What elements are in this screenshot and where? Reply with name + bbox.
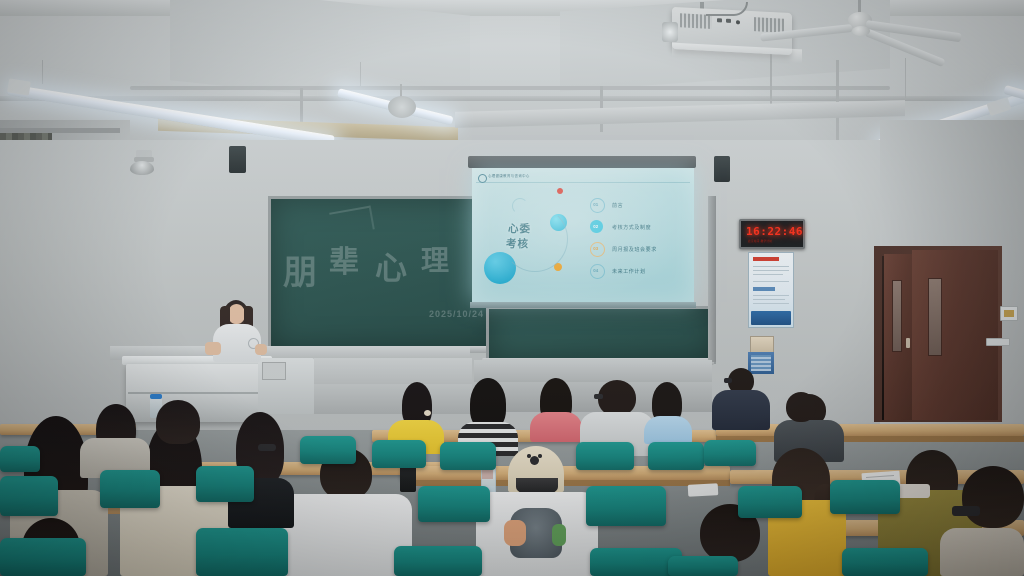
chalk-smudge: [329, 206, 375, 237]
light-wire-3: [905, 58, 906, 98]
poster-line-5: [753, 295, 789, 296]
chair-11[interactable]: [418, 486, 490, 522]
poster-line-2: [753, 270, 789, 271]
presenter-hand-right: [255, 344, 267, 355]
chair-12[interactable]: [586, 486, 666, 526]
chair-3[interactable]: [196, 466, 254, 502]
projector-port-1: [717, 18, 722, 22]
projector-lens: [662, 22, 678, 42]
conduit-pipe: [130, 86, 890, 90]
chalk-mark-3: 心: [375, 243, 407, 289]
chair-19[interactable]: [842, 548, 928, 576]
chair-8[interactable]: [440, 442, 496, 470]
screen-bloom: [472, 168, 694, 302]
chair-2[interactable]: [100, 470, 160, 508]
fan-hub-cap: [852, 26, 870, 36]
chalk-mark-4: 理: [421, 239, 449, 279]
student-navy-glasses: [724, 378, 732, 383]
chalk-date: 2025/10/24: [429, 309, 484, 319]
chalk-mark-1: 朋: [283, 245, 317, 294]
wall-poster: [748, 252, 794, 328]
shirt-graphic-hand: [504, 520, 526, 546]
chair-13[interactable]: [394, 546, 482, 576]
light-switch-plate: [1000, 306, 1018, 321]
chair-4[interactable]: [0, 538, 86, 576]
poster-line-3: [753, 274, 783, 275]
wall-chart-small: [748, 352, 774, 374]
chair-20[interactable]: [0, 446, 40, 472]
notebook-center: [688, 483, 719, 497]
screen-roller-case: [468, 156, 696, 168]
blackboard-left: 朋 辈 心 理 2025/10/24: [268, 196, 500, 352]
cap-logo-ear-right: [538, 454, 542, 458]
door-window-left: [892, 280, 902, 352]
door-handle: [906, 338, 910, 348]
student-gray-hair: [598, 380, 636, 416]
cap-logo-ear-left: [527, 454, 531, 458]
projector-led: [736, 20, 740, 24]
spacer-a: [470, 398, 476, 404]
door-window-right: [928, 278, 942, 356]
podium-seam: [128, 392, 264, 394]
cabinet-panel: [262, 362, 286, 380]
chair-17[interactable]: [830, 480, 900, 514]
student-far-right-glasses: [952, 506, 980, 516]
dome-camera: [130, 161, 154, 175]
wall-socket: [986, 338, 1010, 346]
wall-speaker-left: [229, 146, 246, 173]
student-far-right-top: [940, 528, 1024, 576]
poster-line-7: [753, 303, 789, 304]
chalk-mark-2: 辈: [329, 237, 359, 281]
podium-bottle-cap: [150, 394, 162, 399]
student-pink-top: [530, 412, 582, 442]
door-leaf-left: [884, 254, 912, 420]
presenter-hand-left: [205, 342, 221, 355]
chair-18[interactable]: [668, 556, 738, 576]
student-yellow-hairtie: [424, 410, 431, 416]
student-whitetee-shirt: [276, 494, 412, 576]
chair-7[interactable]: [372, 440, 426, 468]
projector-vent-right: [754, 17, 784, 33]
desk-row1-right-edge: [716, 436, 1024, 442]
front-counter: [314, 358, 472, 384]
projection-screen: 心理健康教育与咨询中心 心委 考核 01 前言 02 考核方式及制度: [472, 168, 694, 302]
student-backright-head: [786, 392, 816, 422]
poster-line-6: [753, 299, 785, 300]
poster-subhead: [753, 287, 775, 291]
chair-10[interactable]: [648, 442, 704, 470]
student-olive-collar: [896, 484, 930, 498]
front-counter-right: [474, 360, 712, 382]
clock-sublabel: 北京时间 教学计时: [748, 239, 772, 243]
shirt-graphic-leaf: [552, 524, 566, 546]
student-backleft-hair: [156, 400, 200, 444]
student-gray-glasses: [594, 394, 603, 399]
student-glasses-frames: [258, 444, 276, 451]
conduit-drop-1: [300, 88, 303, 124]
projector-port-2: [726, 19, 731, 23]
chair-5[interactable]: [196, 528, 288, 576]
poster-line-4: [753, 281, 789, 282]
curtain-rail: [0, 128, 120, 133]
front-counter-base: [314, 384, 472, 414]
chair-16[interactable]: [738, 486, 802, 518]
student-far-right-head: [962, 466, 1024, 528]
digital-clock: 16:22:46 北京时间 教学计时: [739, 219, 805, 249]
presenter-head: [228, 304, 245, 324]
poster-line-1: [753, 266, 789, 267]
light-wire-2: [360, 62, 361, 88]
wall-fan-head: [388, 96, 416, 118]
chair-9[interactable]: [576, 442, 634, 470]
light-wire-1: [42, 60, 43, 84]
blackboard-right: [486, 306, 716, 364]
poster-footer-banner: [751, 311, 791, 325]
door-leaf-right: [912, 250, 998, 420]
chair-15[interactable]: [704, 440, 756, 466]
board-frame-right: [708, 196, 716, 362]
chair-6[interactable]: [300, 436, 356, 464]
student-blue-top: [644, 416, 692, 444]
chair-1[interactable]: [0, 476, 58, 516]
clock-time: 16:22:46: [746, 225, 803, 238]
screen-bottom-bar: [470, 302, 696, 308]
poster-headline: [753, 257, 779, 261]
student-navy-shirt: [712, 390, 770, 430]
wall-speaker-right: [714, 156, 730, 182]
classroom-photo: 朋 辈 心 理 2025/10/24 心理健康教育与咨询中心 心委 考核 01: [0, 0, 1024, 576]
